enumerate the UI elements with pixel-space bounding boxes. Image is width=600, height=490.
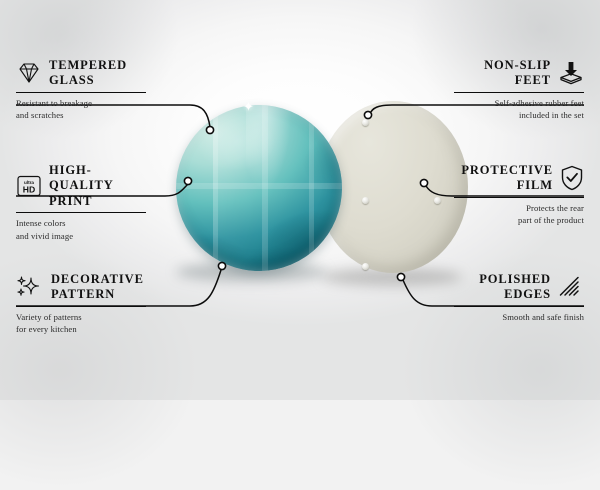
feature-header: PROTECTIVE FILM xyxy=(454,163,584,194)
feature-description: Resistant to breakage and scratches xyxy=(16,97,146,121)
infographic-canvas: ✦ xyxy=(0,0,600,400)
feature-header: ultra HD HIGH-QUALITY PRINT xyxy=(16,163,146,209)
feature-title: DECORATIVE PATTERN xyxy=(51,272,144,303)
feature-title: TEMPERED GLASS xyxy=(49,58,127,89)
feature-header: TEMPERED GLASS xyxy=(16,58,146,89)
feature-protective-film: PROTECTIVE FILM Protects the rear part o… xyxy=(454,163,584,227)
diamond-icon xyxy=(16,62,42,84)
sparkle-icon xyxy=(16,275,44,299)
connector-dot-decorative-pattern xyxy=(218,262,225,269)
connector-dot-polished-edges xyxy=(397,273,404,280)
connector-dot-high-quality-print xyxy=(184,177,191,184)
feature-tempered-glass: TEMPERED GLASS Resistant to breakage and… xyxy=(16,58,146,122)
feature-title: HIGH-QUALITY PRINT xyxy=(49,163,146,209)
press-down-arrow-icon xyxy=(558,61,584,85)
beveled-edge-icon xyxy=(558,275,584,299)
feature-divider xyxy=(16,92,146,94)
feature-description: Smooth and safe finish xyxy=(454,311,584,323)
shield-check-icon xyxy=(560,165,584,191)
connector-dot-non-slip-feet xyxy=(364,111,371,118)
feature-header: POLISHED EDGES xyxy=(454,272,584,303)
feature-divider xyxy=(454,306,584,308)
feature-description: Variety of patterns for every kitchen xyxy=(16,311,146,335)
connector-dot-protective-film xyxy=(420,179,427,186)
feature-divider xyxy=(454,92,584,94)
feature-divider xyxy=(454,197,584,199)
feature-polished-edges: POLISHED EDGES Smooth and safe finish xyxy=(454,272,584,323)
feature-header: NON-SLIP FEET xyxy=(454,58,584,89)
feature-description: Intense colors and vivid image xyxy=(16,217,146,241)
svg-text:HD: HD xyxy=(23,184,35,194)
feature-divider xyxy=(16,212,146,214)
feature-title: NON-SLIP FEET xyxy=(484,58,551,89)
feature-title: POLISHED EDGES xyxy=(479,272,551,303)
feature-header: DECORATIVE PATTERN xyxy=(16,272,146,303)
feature-high-quality-print: ultra HD HIGH-QUALITY PRINT Intense colo… xyxy=(16,163,146,242)
feature-description: Self-adhesive rubber feet included in th… xyxy=(454,97,584,121)
feature-divider xyxy=(16,306,146,308)
feature-description: Protects the rear part of the product xyxy=(454,202,584,226)
feature-decorative-pattern: DECORATIVE PATTERN Variety of patterns f… xyxy=(16,272,146,336)
connector-dot-tempered-glass xyxy=(206,126,213,133)
feature-title: PROTECTIVE FILM xyxy=(461,163,553,194)
ultra-hd-icon: ultra HD xyxy=(16,174,42,198)
feature-non-slip-feet: NON-SLIP FEET Self-adhesive rubber feet … xyxy=(454,58,584,122)
